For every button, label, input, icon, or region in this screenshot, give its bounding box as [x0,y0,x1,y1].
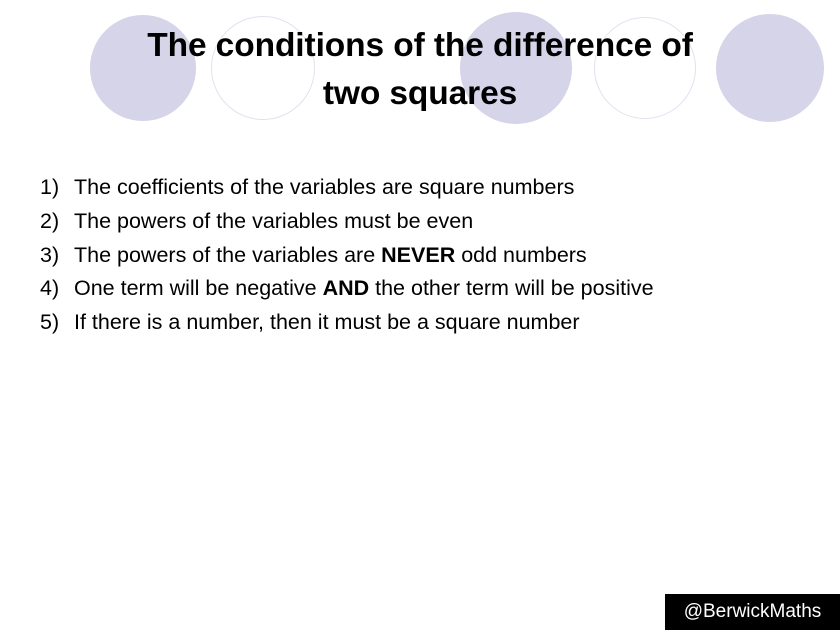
slide-title: The conditions of the difference of two … [60,22,780,117]
list-item-number: 2) [40,205,74,239]
list-item: 5)If there is a number, then it must be … [40,306,810,340]
slide-title-line-1: The conditions of the difference of [60,22,780,70]
list-item: 1)The coefficients of the variables are … [40,171,810,205]
list-item: 3)The powers of the variables are NEVER … [40,239,810,273]
list-item-text-before: The powers of the variables are [74,243,381,267]
list-item-emphasis: AND [323,276,370,300]
list-item-text: The coefficients of the variables are sq… [74,171,810,205]
slide-title-line-2: two squares [60,70,780,118]
list-item-text-before: One term will be negative [74,276,323,300]
presentation-slide: The conditions of the difference of two … [0,0,840,630]
list-item: 4)One term will be negative AND the othe… [40,272,810,306]
list-item-number: 4) [40,272,74,306]
list-item-number: 1) [40,171,74,205]
watermark-label: @BerwickMaths [684,601,822,622]
list-item-text: One term will be negative AND the other … [74,272,810,306]
list-item-text: The powers of the variables must be even [74,205,810,239]
watermark-badge: @BerwickMaths [665,594,840,630]
list-item: 2)The powers of the variables must be ev… [40,205,810,239]
list-item-text: If there is a number, then it must be a … [74,306,810,340]
list-item-text-after: odd numbers [455,243,586,267]
list-item-text-before: The powers of the variables must be even [74,209,473,233]
list-item-text-before: If there is a number, then it must be a … [74,310,580,334]
list-item-text: The powers of the variables are NEVER od… [74,239,810,273]
list-item-emphasis: NEVER [381,243,455,267]
list-item-number: 3) [40,239,74,273]
list-item-text-before: The coefficients of the variables are sq… [74,175,574,199]
conditions-list: 1)The coefficients of the variables are … [40,171,810,340]
list-item-text-after: the other term will be positive [369,276,653,300]
list-item-number: 5) [40,306,74,340]
